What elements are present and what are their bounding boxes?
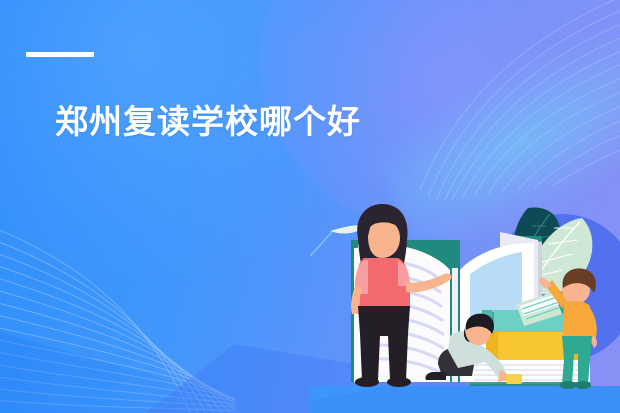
education-illustration <box>310 196 620 413</box>
banner-card: 郑州复读学校哪个好 <box>0 0 620 413</box>
page-title: 郑州复读学校哪个好 <box>55 102 361 142</box>
accent-bar <box>26 52 94 57</box>
yellow-block <box>506 374 522 384</box>
